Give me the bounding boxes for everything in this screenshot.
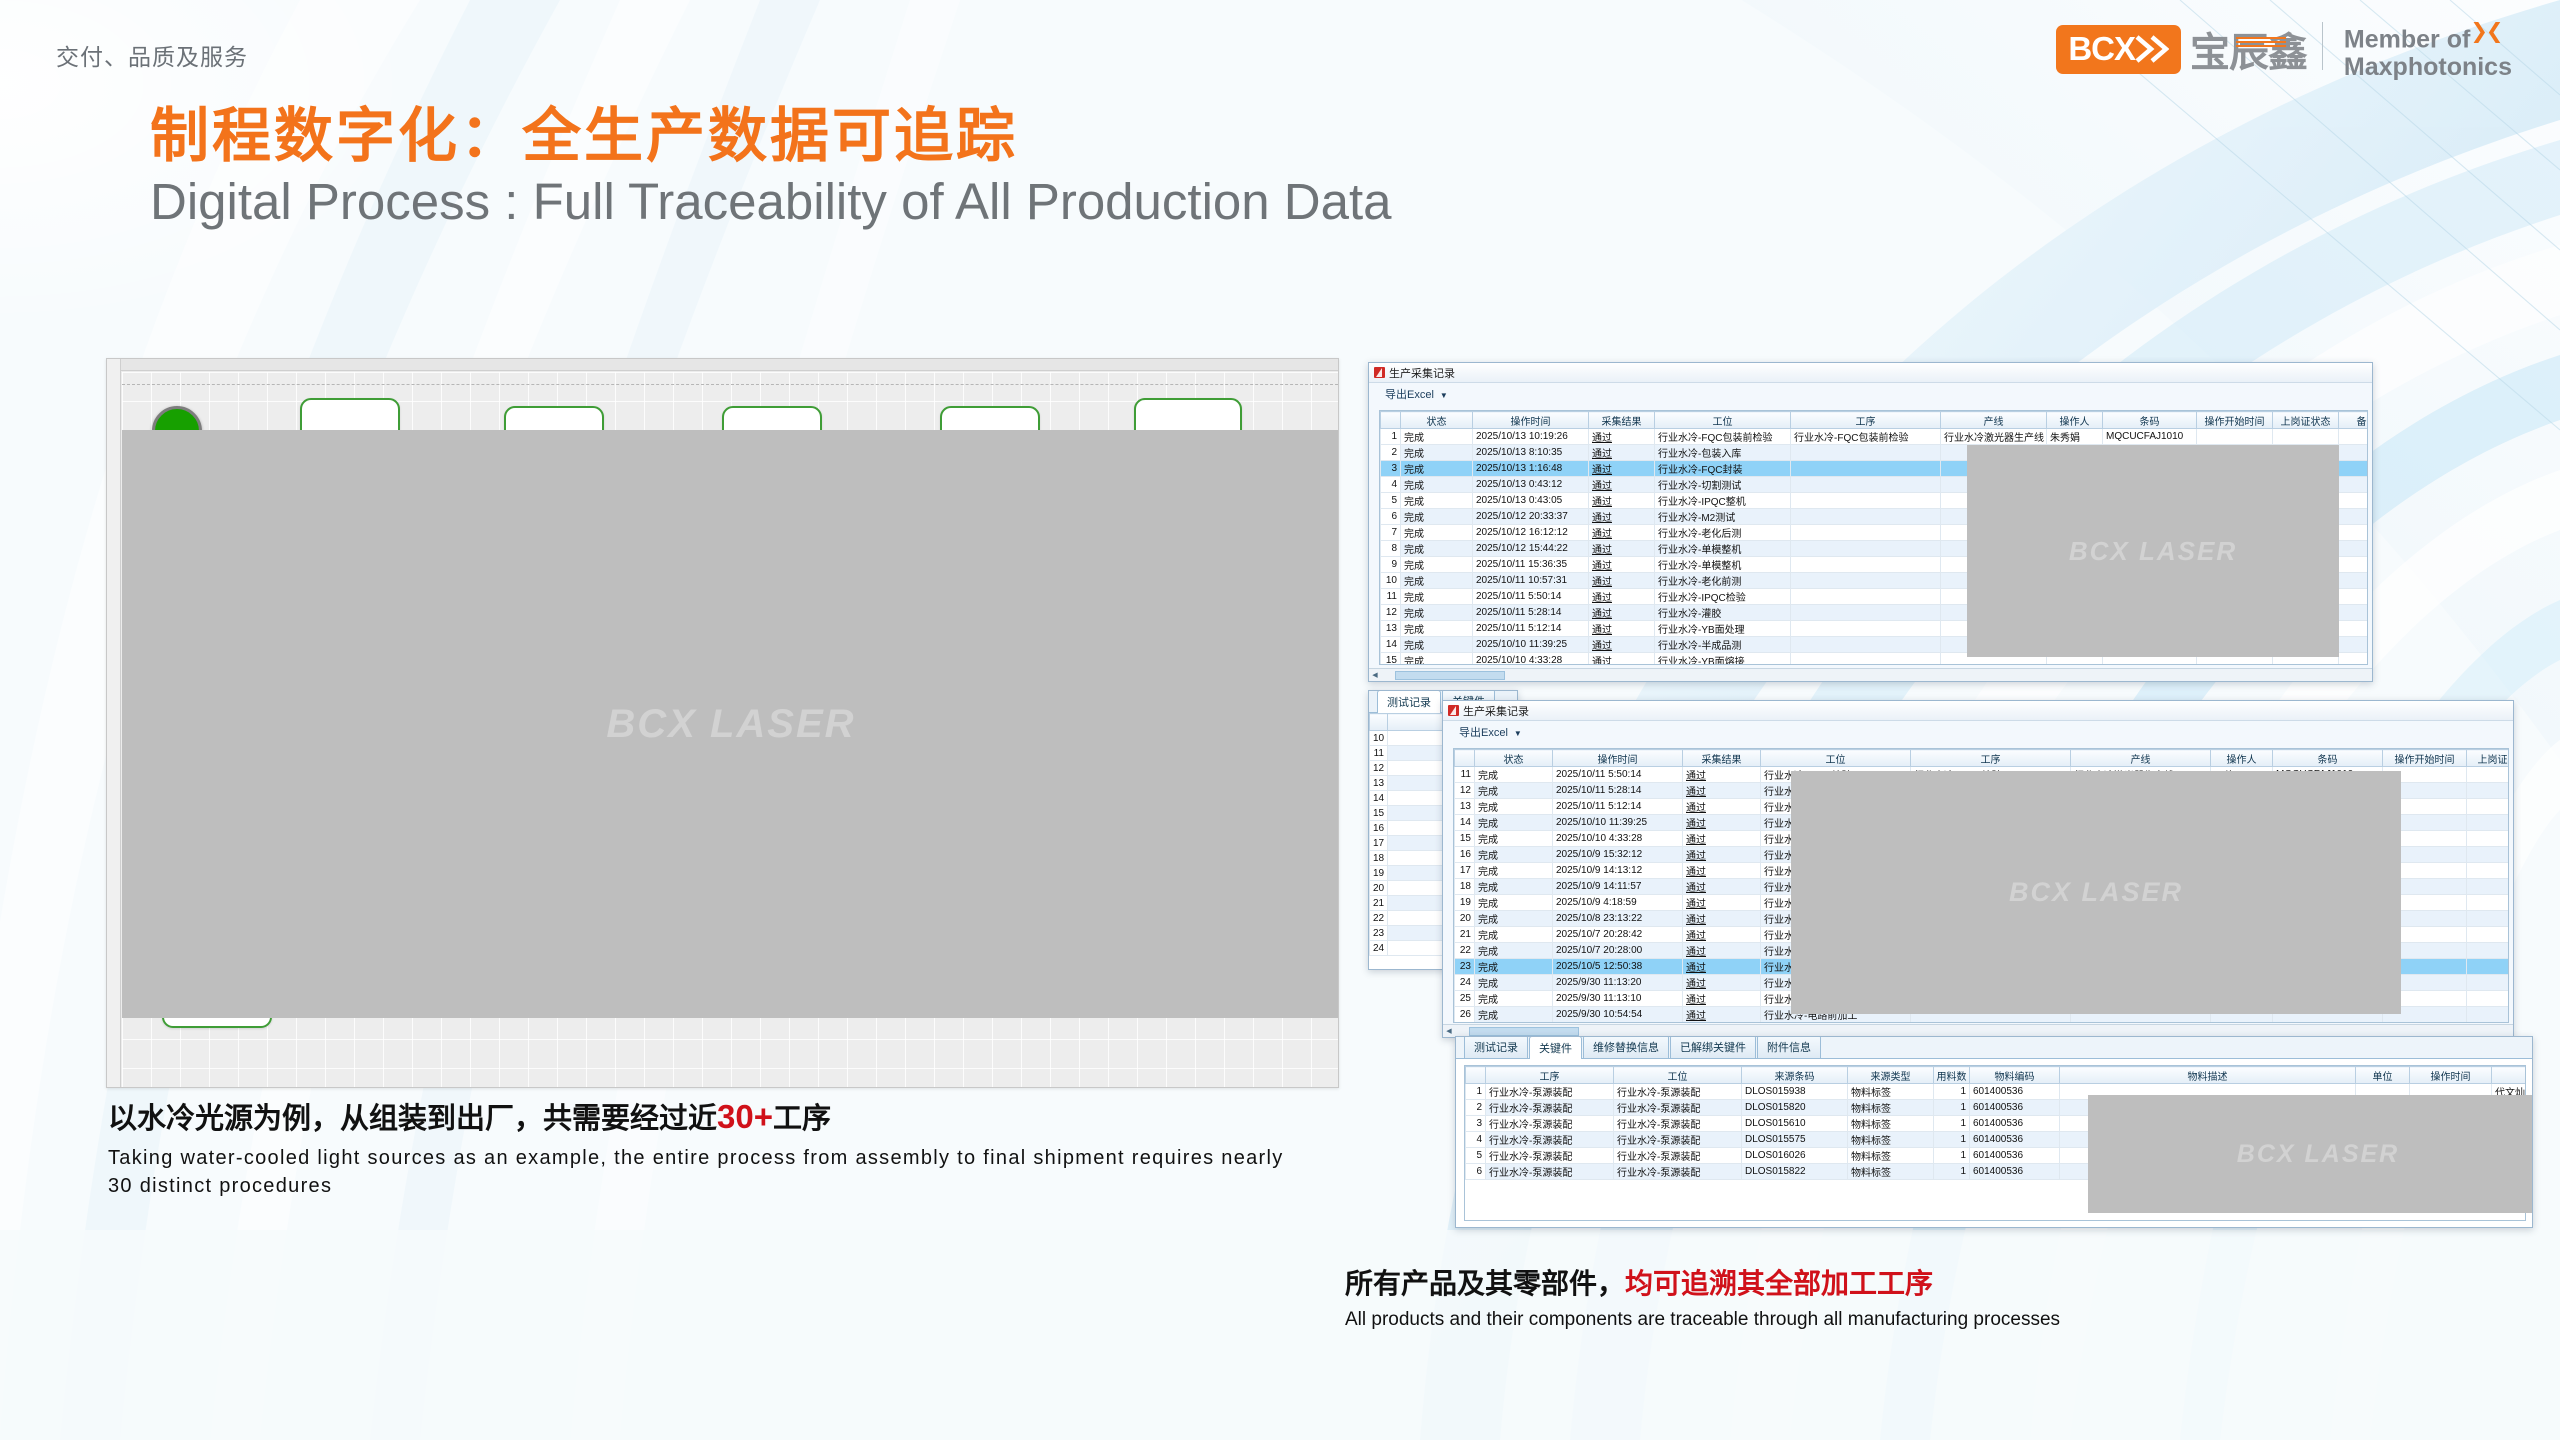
row-number: 11 (1370, 746, 1388, 761)
table-cell[interactable] (2467, 927, 2510, 943)
table-cell[interactable]: 通过 (1589, 621, 1655, 637)
table-cell[interactable]: 行业水冷-灌胶 (1655, 605, 1791, 621)
row-number: 13 (1370, 776, 1388, 791)
table-cell[interactable]: 通过 (1683, 1007, 1761, 1023)
redaction-overlay: BCX LASER (1791, 771, 2401, 1014)
column-header[interactable]: 产线 (1941, 412, 2047, 429)
table-cell[interactable]: 完成 (1401, 445, 1473, 461)
table-cell[interactable]: 完成 (1401, 477, 1473, 493)
column-header[interactable]: 工序 (1791, 412, 1941, 429)
window1-titlebar[interactable]: 生产采集记录 (1369, 363, 2372, 383)
table-cell[interactable]: 完成 (1401, 573, 1473, 589)
table-cell[interactable]: 通过 (1683, 863, 1761, 879)
maxphotonics-member-logo: Member of❯❮ Maxphotonics (2344, 20, 2512, 81)
logo-divider (2322, 22, 2323, 70)
table-cell[interactable]: 通过 (1589, 445, 1655, 461)
table-cell[interactable]: 完成 (1401, 605, 1473, 621)
table-cell[interactable]: 行业水冷-泵源装配 (1486, 1132, 1614, 1148)
table-cell[interactable]: 通过 (1683, 767, 1761, 783)
column-header[interactable]: 条码 (2103, 412, 2197, 429)
table-cell[interactable] (2467, 863, 2510, 879)
table-cell[interactable]: 2025/10/5 12:50:38 (1553, 959, 1683, 975)
column-header[interactable]: 物料编码 (1970, 1067, 2060, 1084)
table-cell[interactable]: 物料标签 (1848, 1116, 1934, 1132)
column-header[interactable]: 条码 (2273, 750, 2383, 767)
table-cell[interactable] (2467, 767, 2510, 783)
column-header[interactable]: 来源条码 (1742, 1067, 1848, 1084)
table-cell[interactable]: 通过 (1589, 493, 1655, 509)
table-cell[interactable]: 通过 (1589, 429, 1655, 445)
column-header[interactable]: 操作时间 (2410, 1067, 2492, 1084)
table-cell[interactable]: 2025/9/30 10:54:54 (1553, 1007, 1683, 1023)
column-header[interactable]: 操作时间 (1553, 750, 1683, 767)
table-cell[interactable]: 行业水冷-泵源装配 (1486, 1164, 1614, 1180)
table-cell[interactable]: 2025/9/30 11:13:20 (1553, 975, 1683, 991)
table-cell[interactable]: 2025/10/13 8:10:35 (1473, 445, 1589, 461)
table-cell[interactable]: 2025/10/8 23:13:22 (1553, 911, 1683, 927)
table-cell[interactable]: 2025/10/7 20:28:00 (1553, 943, 1683, 959)
table-cell[interactable]: 2025/10/11 5:28:14 (1553, 783, 1683, 799)
table-cell[interactable]: 通过 (1589, 509, 1655, 525)
table-cell[interactable]: 完成 (1475, 991, 1553, 1007)
table-cell[interactable]: 1 (1934, 1148, 1970, 1164)
column-header[interactable]: 操作时间 (1473, 412, 1589, 429)
bcx-logo-stripes (2236, 37, 2286, 48)
table-cell[interactable] (1791, 589, 1941, 605)
table-cell[interactable]: 2025/10/9 14:11:57 (1553, 879, 1683, 895)
table-cell[interactable]: 完成 (1401, 429, 1473, 445)
table-cell[interactable]: 通过 (1683, 799, 1761, 815)
column-header[interactable]: 工序 (1486, 1067, 1614, 1084)
table-cell[interactable]: 2025/9/30 11:13:10 (1553, 991, 1683, 1007)
table-cell[interactable]: 完成 (1401, 493, 1473, 509)
table-cell[interactable]: 通过 (1683, 815, 1761, 831)
table-cell[interactable]: 行业水冷-切割测试 (1655, 477, 1791, 493)
column-header[interactable]: 操作开始时间 (2383, 750, 2467, 767)
table-cell[interactable]: 行业水冷-泵源装配 (1614, 1100, 1742, 1116)
table-cell[interactable]: 2025/10/13 0:43:12 (1473, 477, 1589, 493)
table-cell[interactable]: 601400536 (1970, 1100, 2060, 1116)
table-cell[interactable]: 通过 (1683, 911, 1761, 927)
table-cell[interactable]: 通过 (1589, 605, 1655, 621)
table-cell[interactable]: 2025/10/10 4:33:28 (1473, 653, 1589, 666)
column-header[interactable]: 备注 (2339, 412, 2369, 429)
bcx-badge: BCX (2056, 25, 2181, 74)
table-cell[interactable] (2467, 799, 2510, 815)
right-caption-block: 所有产品及其零部件，均可追溯其全部加工工序 All products and t… (1345, 1262, 2060, 1331)
table-cell[interactable] (1791, 541, 1941, 557)
table-cell[interactable]: 行业水冷-FQC包装前检验 (1791, 429, 1941, 445)
tab-已解绑关键件[interactable]: 已解绑关键件 (1670, 1036, 1756, 1058)
column-header[interactable]: 来源类型 (1848, 1067, 1934, 1084)
table-cell[interactable]: 2025/10/9 15:32:12 (1553, 847, 1683, 863)
table-cell[interactable]: 2025/10/13 1:16:48 (1473, 461, 1589, 477)
column-header[interactable]: 操作人 (2047, 412, 2103, 429)
table-cell[interactable]: 2025/10/11 5:12:14 (1553, 799, 1683, 815)
window-production-collection-records-2[interactable]: 生产采集记录 导出Excel▼ 状态操作时间采集结果工位工序产线操作人条码操作开… (1442, 700, 2514, 1038)
table-cell[interactable]: 完成 (1401, 461, 1473, 477)
row-number: 9 (1381, 557, 1401, 573)
table-cell[interactable] (2467, 895, 2510, 911)
table-cell[interactable]: 2025/10/12 15:44:22 (1473, 541, 1589, 557)
table-cell[interactable]: 1 (1934, 1084, 1970, 1100)
table-cell[interactable] (2467, 1007, 2510, 1023)
row-number: 18 (1370, 851, 1388, 866)
table-cell[interactable]: 行业水冷-泵源装配 (1486, 1084, 1614, 1100)
table-cell[interactable] (1791, 477, 1941, 493)
table-cell[interactable]: 2025/10/11 5:50:14 (1553, 767, 1683, 783)
row-number: 4 (1381, 477, 1401, 493)
table-cell[interactable] (2339, 445, 2369, 461)
table-cell[interactable] (1791, 653, 1941, 666)
column-header[interactable]: 工序 (1911, 750, 2071, 767)
row-number: 24 (1370, 941, 1388, 956)
row-number: 11 (1455, 767, 1475, 783)
table-cell[interactable]: 1 (1934, 1164, 1970, 1180)
table-cell[interactable] (2467, 879, 2510, 895)
table-cell[interactable]: 完成 (1475, 831, 1553, 847)
table-cell[interactable] (2339, 477, 2369, 493)
column-header[interactable]: 采集结果 (1589, 412, 1655, 429)
table-cell[interactable] (2339, 509, 2369, 525)
table-cell[interactable] (1791, 461, 1941, 477)
column-header[interactable]: 产线 (2071, 750, 2211, 767)
table-cell[interactable]: 通过 (1683, 975, 1761, 991)
table-cell[interactable]: 1 (1934, 1116, 1970, 1132)
table-cell[interactable]: 行业水冷-泵源装配 (1486, 1116, 1614, 1132)
row-number: 22 (1455, 943, 1475, 959)
row-number: 7 (1381, 525, 1401, 541)
table-cell[interactable]: 完成 (1475, 863, 1553, 879)
table-cell[interactable] (1791, 557, 1941, 573)
table-cell[interactable]: 2025/10/13 0:43:05 (1473, 493, 1589, 509)
column-header[interactable]: 物料描述 (2060, 1067, 2356, 1084)
table-cell[interactable]: 1 (1934, 1132, 1970, 1148)
row-number: 12 (1455, 783, 1475, 799)
row-number: 2 (1381, 445, 1401, 461)
row-number-header (1455, 750, 1475, 767)
table-cell[interactable] (2339, 461, 2369, 477)
table-cell[interactable]: 2025/10/11 10:57:31 (1473, 573, 1589, 589)
table-cell[interactable]: 完成 (1401, 637, 1473, 653)
table-cell[interactable]: DLOS016026 (1742, 1148, 1848, 1164)
row-number: 14 (1370, 791, 1388, 806)
table-cell[interactable] (2339, 605, 2369, 621)
table-cell[interactable] (2467, 847, 2510, 863)
table-cell[interactable]: 行业水冷-泵源装配 (1486, 1100, 1614, 1116)
table-cell[interactable] (2339, 637, 2369, 653)
tab-关键件[interactable]: 关键件 (1529, 1036, 1582, 1059)
table-cell[interactable]: MQCUCFAJ1010 (2103, 429, 2197, 445)
table-cell[interactable]: 601400536 (1970, 1116, 2060, 1132)
row-number: 20 (1455, 911, 1475, 927)
table-cell[interactable]: 通过 (1683, 895, 1761, 911)
row-number: 19 (1455, 895, 1475, 911)
column-header[interactable]: 工位 (1761, 750, 1911, 767)
tab-附件信息[interactable]: 附件信息 (1757, 1036, 1821, 1058)
table-cell[interactable]: 行业水冷-M2测试 (1655, 509, 1791, 525)
table-cell[interactable]: 2025/10/10 11:39:25 (1553, 815, 1683, 831)
row-number: 21 (1370, 896, 1388, 911)
column-header[interactable]: 操作人 (2211, 750, 2273, 767)
app-icon (1374, 367, 1385, 378)
table-cell[interactable]: 2025/10/11 5:28:14 (1473, 605, 1589, 621)
redaction-overlay: BCX LASER (122, 430, 1339, 1018)
table-cell[interactable]: DLOS015822 (1742, 1164, 1848, 1180)
table-cell[interactable] (1791, 637, 1941, 653)
right-caption-highlight: 均可追溯其全部加工工序 (1625, 1268, 1933, 1299)
table-cell[interactable] (2197, 429, 2273, 445)
table-cell[interactable]: 通过 (1589, 589, 1655, 605)
table-cell[interactable] (1791, 445, 1941, 461)
table-cell[interactable]: 行业水冷-YB面熔接 (1655, 653, 1791, 666)
row-number: 12 (1381, 605, 1401, 621)
table-cell[interactable]: 通过 (1589, 573, 1655, 589)
row-number: 2 (1466, 1100, 1486, 1116)
table-cell[interactable]: 完成 (1475, 895, 1553, 911)
table-cell[interactable] (1791, 621, 1941, 637)
column-header[interactable]: 工位 (1655, 412, 1791, 429)
column-header[interactable]: 工位 (1614, 1067, 1742, 1084)
row-number: 1 (1381, 429, 1401, 445)
table-cell[interactable]: 行业水冷-泵源装配 (1614, 1116, 1742, 1132)
table-cell[interactable]: 物料标签 (1848, 1132, 1934, 1148)
table-cell[interactable]: 朱秀娟 (2047, 429, 2103, 445)
column-header[interactable]: 上岗证状态 (2467, 750, 2510, 767)
table-cell[interactable]: 完成 (1475, 975, 1553, 991)
table-cell[interactable]: 行业水冷-半成品测 (1655, 637, 1791, 653)
table-cell[interactable]: 完成 (1475, 799, 1553, 815)
canvas-ruler-top (107, 359, 1338, 371)
column-header[interactable]: 用料数 (1934, 1067, 1970, 1084)
column-header[interactable]: 状态 (1475, 750, 1553, 767)
table-cell[interactable] (2339, 493, 2369, 509)
row-number: 1 (1466, 1084, 1486, 1100)
table-cell[interactable]: 行业水冷-泵源装配 (1614, 1084, 1742, 1100)
table-cell[interactable] (1791, 525, 1941, 541)
flow-canvas[interactable]: BCX LASER (122, 372, 1338, 1087)
table-cell[interactable]: DLOS015575 (1742, 1132, 1848, 1148)
table-cell[interactable]: 通过 (1683, 943, 1761, 959)
table-cell[interactable]: 完成 (1475, 767, 1553, 783)
tab-test-record[interactable]: 测试记录 (1377, 690, 1441, 713)
table-cell[interactable]: 601400536 (1970, 1148, 2060, 1164)
table-cell[interactable]: 完成 (1475, 1007, 1553, 1023)
scroll-left-arrow[interactable]: ◀ (1443, 1027, 1455, 1035)
window1-hscrollbar[interactable]: ◀ (1369, 668, 2372, 681)
table-cell[interactable]: 2025/10/12 20:33:37 (1473, 509, 1589, 525)
table-cell[interactable] (2339, 621, 2369, 637)
table-cell[interactable]: 完成 (1475, 815, 1553, 831)
table-cell[interactable] (2339, 573, 2369, 589)
table-cell[interactable]: 行业水冷激光器生产线 (1941, 429, 2047, 445)
table-cell[interactable]: 通过 (1683, 991, 1761, 1007)
table-cell[interactable] (2339, 589, 2369, 605)
column-header[interactable]: 上岗证状态 (2273, 412, 2339, 429)
bcx-logo-chinese: 宝辰鑫 (2190, 20, 2307, 78)
table-cell[interactable]: 通过 (1683, 959, 1761, 975)
row-number: 15 (1455, 831, 1475, 847)
table-cell[interactable] (1791, 509, 1941, 525)
table-cell[interactable]: 完成 (1401, 653, 1473, 666)
table-cell[interactable]: 2025/10/11 5:12:14 (1473, 621, 1589, 637)
table-cell[interactable]: 行业水冷-老化前测 (1655, 573, 1791, 589)
table-cell[interactable]: 行业水冷-YB面处理 (1655, 621, 1791, 637)
table-cell[interactable] (2467, 815, 2510, 831)
column-header[interactable]: 状态 (1401, 412, 1473, 429)
table-cell[interactable] (2467, 959, 2510, 975)
table-cell[interactable]: 2025/10/9 4:18:59 (1553, 895, 1683, 911)
process-flow-screenshot[interactable]: BCX LASER (106, 358, 1339, 1088)
window-production-collection-records-1[interactable]: 生产采集记录 导出Excel▼ 状态操作时间采集结果工位工序产线操作人条码操作开… (1368, 362, 2373, 682)
table-cell[interactable]: 完成 (1475, 847, 1553, 863)
tab-维修替换信息[interactable]: 维修替换信息 (1583, 1036, 1669, 1058)
row-number: 13 (1381, 621, 1401, 637)
table-cell[interactable]: 2025/10/13 10:19:26 (1473, 429, 1589, 445)
row-number: 26 (1455, 1007, 1475, 1023)
table-cell[interactable]: 601400536 (1970, 1084, 2060, 1100)
column-header[interactable]: 操作开始时间 (2197, 412, 2273, 429)
column-header[interactable]: 采集结果 (1683, 750, 1761, 767)
watermark-bcx-laser: BCX LASER (2009, 877, 2183, 908)
table-cell[interactable] (2467, 943, 2510, 959)
left-caption-block: 以水冷光源为例，从组装到出厂，共需要经过近30+工序 Taking water-… (108, 1095, 1338, 1201)
table-cell[interactable]: 行业水冷-泵源装配 (1614, 1148, 1742, 1164)
row-number: 8 (1381, 541, 1401, 557)
table-cell[interactable]: 完成 (1475, 783, 1553, 799)
table-cell[interactable]: 行业水冷-IPQC检验 (1655, 589, 1791, 605)
bcx-wordmark: BCX (2068, 30, 2135, 68)
table-cell[interactable] (1791, 573, 1941, 589)
window-key-parts-detail[interactable]: 测试记录关键件维修替换信息已解绑关键件附件信息 工序工位来源条码来源类型用料数物… (1455, 1036, 2533, 1228)
table-cell[interactable]: 物料标签 (1848, 1084, 1934, 1100)
table-cell[interactable]: 1 (1934, 1100, 1970, 1116)
row-number: 14 (1455, 815, 1475, 831)
table-cell[interactable]: 行业水冷-包装入库 (1655, 445, 1791, 461)
table-cell[interactable]: 2025/10/10 4:33:28 (1553, 831, 1683, 847)
table-cell[interactable] (2339, 541, 2369, 557)
export-excel-button[interactable]: 导出Excel▼ (1454, 722, 1527, 742)
table-cell[interactable] (2467, 991, 2510, 1007)
window2-toolbar[interactable]: 导出Excel▼ (1443, 721, 2513, 743)
table-cell[interactable]: 行业水冷-IPQC整机 (1655, 493, 1791, 509)
table-cell[interactable]: 行业水冷-泵源装配 (1614, 1164, 1742, 1180)
table-cell[interactable] (2339, 653, 2369, 666)
table-cell[interactable]: 通过 (1589, 557, 1655, 573)
table-cell[interactable]: 完成 (1401, 509, 1473, 525)
table-cell[interactable]: 完成 (1475, 959, 1553, 975)
table-cell[interactable]: 2025/10/7 20:28:42 (1553, 927, 1683, 943)
scroll-thumb[interactable] (1469, 1027, 1579, 1036)
table-cell[interactable]: 2025/10/11 15:36:35 (1473, 557, 1589, 573)
table-cell[interactable]: 完成 (1401, 541, 1473, 557)
table-cell[interactable] (2467, 831, 2510, 847)
left-caption-chinese: 以水冷光源为例，从组装到出厂，共需要经过近30+工序 (108, 1095, 1338, 1137)
table-cell[interactable]: 通过 (1589, 653, 1655, 666)
table-cell[interactable] (2467, 783, 2510, 799)
table-cell[interactable]: DLOS015938 (1742, 1084, 1848, 1100)
table-cell[interactable]: 通过 (1589, 477, 1655, 493)
table-cell[interactable]: DLOS015820 (1742, 1100, 1848, 1116)
table-cell[interactable] (2467, 975, 2510, 991)
row-number: 10 (1381, 573, 1401, 589)
table-cell[interactable]: 601400536 (1970, 1164, 2060, 1180)
table-cell[interactable]: 完成 (1401, 525, 1473, 541)
table-cell[interactable]: 物料标签 (1848, 1148, 1934, 1164)
row-number: 23 (1455, 959, 1475, 975)
table-cell[interactable]: 2025/10/9 14:13:12 (1553, 863, 1683, 879)
table-cell[interactable]: 2025/10/10 11:39:25 (1473, 637, 1589, 653)
table-cell[interactable]: 行业水冷-FQC封装 (1655, 461, 1791, 477)
watermark-bcx-laser: BCX LASER (2237, 1140, 2399, 1169)
tab-测试记录[interactable]: 测试记录 (1464, 1036, 1528, 1058)
export-excel-button[interactable]: 导出Excel▼ (1380, 384, 1453, 404)
table-cell[interactable]: 行业水冷-单模整机 (1655, 557, 1791, 573)
table-cell[interactable]: 601400536 (1970, 1132, 2060, 1148)
table-cell[interactable] (2339, 557, 2369, 573)
row-number: 25 (1455, 991, 1475, 1007)
column-header[interactable]: 操作人员 (2492, 1067, 2527, 1084)
table-cell[interactable]: 完成 (1401, 557, 1473, 573)
table-cell[interactable] (2339, 429, 2369, 445)
table-cell[interactable]: 通过 (1589, 525, 1655, 541)
table-cell[interactable] (1791, 493, 1941, 509)
row-number: 24 (1455, 975, 1475, 991)
table-cell[interactable]: 2025/10/12 16:12:12 (1473, 525, 1589, 541)
table-cell[interactable]: 物料标签 (1848, 1100, 1934, 1116)
table-cell[interactable]: 通过 (1683, 783, 1761, 799)
table-cell[interactable]: 通过 (1683, 879, 1761, 895)
row-number: 16 (1370, 821, 1388, 836)
table-cell[interactable]: 物料标签 (1848, 1164, 1934, 1180)
table-cell[interactable]: 2025/10/11 5:50:14 (1473, 589, 1589, 605)
table-cell[interactable]: 完成 (1401, 589, 1473, 605)
table-cell[interactable]: 行业水冷-泵源装配 (1486, 1148, 1614, 1164)
table-cell[interactable]: 通过 (1589, 461, 1655, 477)
table-cell[interactable]: 通过 (1683, 847, 1761, 863)
window3-tabbar[interactable]: 测试记录关键件维修替换信息已解绑关键件附件信息 (1456, 1037, 2532, 1059)
table-cell[interactable]: 行业水冷-FQC包装前检验 (1655, 429, 1791, 445)
table-cell[interactable]: 完成 (1475, 943, 1553, 959)
table-cell[interactable]: DLOS015610 (1742, 1116, 1848, 1132)
scroll-left-arrow[interactable]: ◀ (1369, 671, 1381, 679)
table-cell[interactable]: 通过 (1683, 831, 1761, 847)
table-cell[interactable]: 行业水冷-单模整机 (1655, 541, 1791, 557)
table-cell[interactable] (2467, 911, 2510, 927)
table-row[interactable]: 1完成2025/10/13 10:19:26通过行业水冷-FQC包装前检验行业水… (1381, 429, 2369, 445)
row-number: 5 (1381, 493, 1401, 509)
column-header[interactable]: 单位 (2356, 1067, 2410, 1084)
table-cell[interactable]: 通过 (1589, 637, 1655, 653)
window1-toolbar[interactable]: 导出Excel▼ (1369, 383, 2372, 405)
table-cell[interactable] (2273, 429, 2339, 445)
table-cell[interactable]: 完成 (1475, 879, 1553, 895)
table-cell[interactable]: 行业水冷-泵源装配 (1614, 1132, 1742, 1148)
chevron-down-icon: ▼ (1514, 729, 1522, 738)
table-cell[interactable]: 完成 (1475, 911, 1553, 927)
table-cell[interactable] (1791, 605, 1941, 621)
table-cell[interactable]: 完成 (1475, 927, 1553, 943)
table-cell[interactable]: 通过 (1589, 541, 1655, 557)
table-cell[interactable]: 行业水冷-老化后测 (1655, 525, 1791, 541)
table-cell[interactable]: 完成 (1401, 621, 1473, 637)
row-number: 3 (1466, 1116, 1486, 1132)
table-cell[interactable]: 通过 (1683, 927, 1761, 943)
window2-titlebar[interactable]: 生产采集记录 (1443, 701, 2513, 721)
table-cell[interactable] (2339, 525, 2369, 541)
scroll-thumb[interactable] (1395, 671, 1505, 680)
row-number: 13 (1455, 799, 1475, 815)
